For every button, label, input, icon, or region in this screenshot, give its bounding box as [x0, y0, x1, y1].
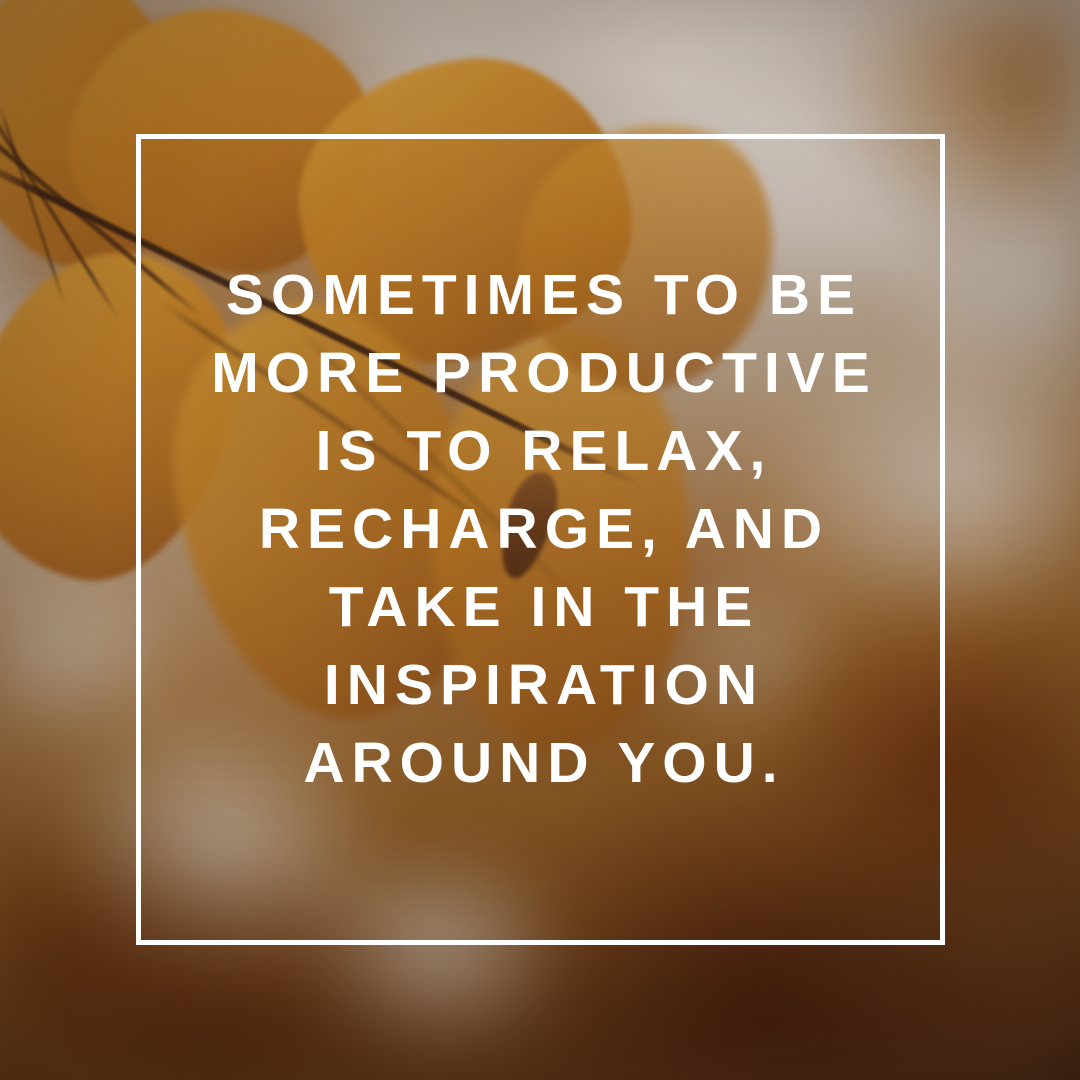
branch-shape-icon: [0, 106, 66, 307]
quote-line: around you.: [204, 724, 877, 802]
quote-card: Sometimes to be more productive is to re…: [0, 0, 1080, 1080]
quote-line: Sometimes to be: [204, 256, 877, 334]
branch-shape-icon: [0, 96, 119, 319]
quote-line: take in the: [204, 568, 877, 646]
quote-line: recharge, and: [204, 490, 877, 568]
quote-line: inspiration: [204, 646, 877, 724]
quote-line: is to relax,: [204, 412, 877, 490]
quote-text-block: Sometimes to be more productive is to re…: [136, 134, 945, 945]
quote-lines: Sometimes to be more productive is to re…: [204, 256, 877, 802]
quote-line: more productive: [204, 334, 877, 412]
